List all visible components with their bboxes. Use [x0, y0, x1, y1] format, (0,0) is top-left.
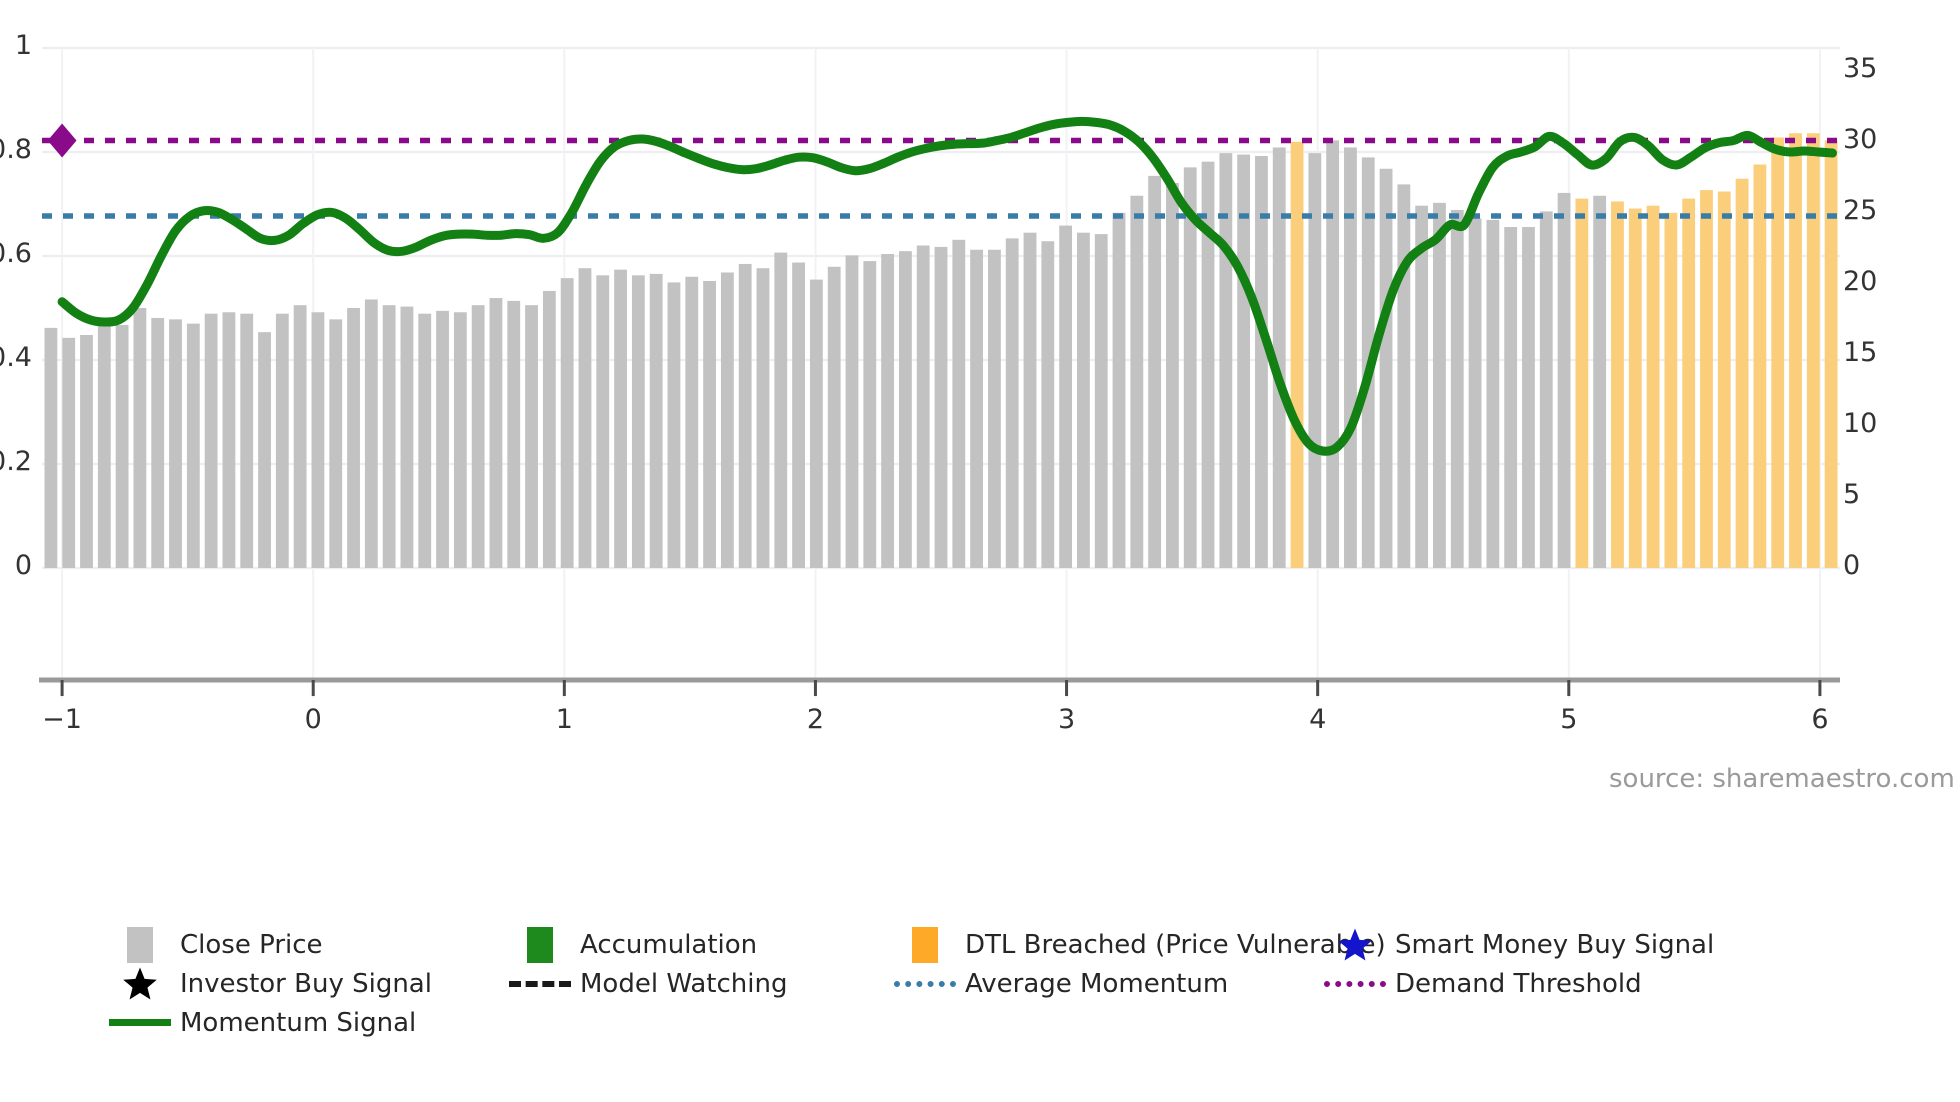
bar-close-price [187, 324, 200, 568]
bar-dtl-breached [1291, 142, 1304, 568]
bar-close-price [1148, 176, 1161, 568]
bar-close-price [1024, 233, 1037, 568]
bar-close-price [525, 305, 538, 568]
right-axis-tick-label: 35 [1843, 53, 1877, 84]
right-axis-tick-label: 15 [1843, 337, 1877, 368]
left-axis-tick-label: 1 [15, 30, 32, 61]
bar-close-price [454, 312, 467, 568]
bar-close-price [917, 245, 930, 568]
bar-close-price [1130, 196, 1143, 568]
x-axis-tick-label: 0 [305, 704, 322, 735]
legend-item-label: Investor Buy Signal [180, 969, 432, 999]
bar-close-price [169, 319, 182, 568]
dashed-line-icon [509, 981, 571, 987]
legend-item-smart-money-buy-signal[interactable]: Smart Money Buy Signal [1315, 925, 1715, 964]
square-swatch-icon [912, 927, 938, 963]
bar-close-price [365, 299, 378, 568]
bar-close-price [881, 254, 894, 568]
bar-close-price [62, 338, 75, 568]
bar-close-price [294, 305, 307, 568]
bar-close-price [792, 263, 805, 568]
right-axis-tick-label: 25 [1843, 195, 1877, 226]
solid-line-icon [109, 1019, 171, 1026]
right-axis-tick-label: 20 [1843, 266, 1877, 297]
bar-close-price [757, 268, 770, 568]
bar-close-price [329, 319, 342, 568]
right-axis-tick-label: 5 [1843, 479, 1860, 510]
right-axis-tick-label: 0 [1843, 550, 1860, 581]
bar-close-price [223, 312, 236, 568]
square-swatch-icon [127, 927, 153, 963]
bar-close-price [1433, 203, 1446, 568]
bar-dtl-breached [1789, 133, 1802, 568]
legend-swatch-line [100, 1019, 180, 1026]
chart-legend: Close PriceAccumulationDTL Breached (Pri… [100, 925, 1930, 1042]
bar-close-price [543, 291, 556, 568]
bar-close-price [1451, 210, 1464, 568]
x-axis-tick-label: 2 [807, 704, 824, 735]
bar-close-price [1558, 193, 1571, 568]
x-axis-tick-label: 5 [1560, 704, 1577, 735]
bar-dtl-breached [1718, 191, 1731, 568]
bar-close-price [1344, 147, 1357, 568]
bar-close-price [579, 268, 592, 568]
left-axis-tick-label: 0.6 [0, 238, 32, 269]
bar-dtl-breached [1700, 190, 1713, 568]
bar-close-price [703, 281, 716, 568]
bar-dtl-breached [1647, 206, 1660, 568]
bar-dtl-breached [1807, 133, 1820, 568]
bar-close-price [632, 275, 645, 568]
bar-close-price [596, 275, 609, 568]
bar-close-price [828, 267, 841, 568]
bar-close-price [418, 314, 431, 568]
bar-close-price [685, 277, 698, 568]
bar-dtl-breached [1611, 201, 1624, 568]
legend-swatch-line [1315, 981, 1395, 987]
bar-close-price [347, 308, 360, 568]
legend-item-investor-buy-signal[interactable]: Investor Buy Signal [100, 964, 500, 1003]
square-swatch-icon [527, 927, 553, 963]
bar-close-price [98, 319, 111, 568]
bar-close-price [721, 272, 734, 568]
legend-item-label: Average Momentum [965, 969, 1228, 999]
bar-dtl-breached [1825, 140, 1838, 568]
bar-close-price [1059, 226, 1072, 568]
bar-close-price [1504, 227, 1517, 568]
bar-close-price [151, 318, 164, 568]
legend-item-label: Close Price [180, 930, 323, 960]
bar-close-price [507, 301, 520, 568]
legend-row: Investor Buy SignalModel WatchingAverage… [100, 964, 1930, 1003]
legend-item-label: Momentum Signal [180, 1008, 416, 1038]
bar-close-price [863, 261, 876, 568]
legend-item-model-watching[interactable]: Model Watching [500, 964, 885, 1003]
bar-close-price [1077, 233, 1090, 568]
bar-close-price [490, 298, 503, 568]
bar-dtl-breached [1682, 199, 1695, 568]
legend-swatch-star [100, 965, 180, 1003]
x-axis-tick-label: 1 [556, 704, 573, 735]
source-attribution: source: sharemaestro.com [1609, 764, 1955, 794]
legend-item-label: Accumulation [580, 930, 757, 960]
bar-close-price [1486, 220, 1499, 568]
bar-close-price [205, 314, 218, 568]
bar-dtl-breached [1629, 209, 1642, 568]
bar-close-price [1593, 196, 1606, 568]
bar-close-price [668, 282, 681, 568]
legend-swatch-star [1315, 926, 1395, 964]
bar-close-price [312, 312, 325, 568]
bar-close-price [614, 270, 627, 568]
bar-close-price [401, 307, 414, 568]
legend-swatch-patch [885, 927, 965, 963]
bar-close-price [1166, 183, 1179, 568]
bar-close-price [1522, 227, 1535, 568]
legend-item-momentum-signal[interactable]: Momentum Signal [100, 1003, 500, 1042]
legend-swatch-patch [500, 927, 580, 963]
left-axis-tick-label: 0 [15, 550, 32, 581]
bar-close-price [774, 253, 787, 568]
bar-close-price [650, 274, 663, 568]
bar-dtl-breached [1575, 199, 1588, 568]
bar-close-price [1380, 169, 1393, 568]
bar-close-price [258, 332, 271, 568]
x-axis-tick-label: 3 [1058, 704, 1075, 735]
bar-close-price [739, 264, 752, 568]
bar-close-price [44, 328, 57, 568]
legend-item-close-price[interactable]: Close Price [100, 925, 500, 964]
bar-close-price [276, 314, 289, 568]
bar-close-price [846, 255, 859, 568]
legend-item-label: Smart Money Buy Signal [1395, 930, 1714, 960]
right-axis-tick-label: 10 [1843, 408, 1877, 439]
x-axis-tick-label: 6 [1811, 704, 1828, 735]
bar-close-price [1469, 218, 1482, 568]
dotted-line-icon [894, 981, 956, 987]
bar-dtl-breached [1771, 138, 1784, 568]
bar-close-price [561, 278, 574, 568]
legend-swatch-line [885, 981, 965, 987]
bar-close-price [116, 325, 129, 568]
legend-item-label: Demand Threshold [1395, 969, 1642, 999]
chart-figure: 00.20.40.60.81 05101520253035 −10123456 … [0, 0, 1960, 1102]
bar-close-price [935, 247, 948, 568]
bar-close-price [472, 305, 485, 568]
bar-close-price [1113, 213, 1126, 568]
bar-close-price [1041, 241, 1054, 568]
star-icon [1336, 926, 1374, 964]
bar-close-price [1415, 206, 1428, 568]
bar-close-price [1326, 140, 1339, 568]
legend-item-accumulation[interactable]: Accumulation [500, 925, 885, 964]
right-axis-tick-label: 30 [1843, 124, 1877, 155]
bar-close-price [1095, 234, 1108, 568]
left-axis-tick-label: 0.8 [0, 134, 32, 165]
legend-item-demand-threshold[interactable]: Demand Threshold [1315, 964, 1715, 1003]
x-axis-tick-label: 4 [1309, 704, 1326, 735]
bar-dtl-breached [1753, 165, 1766, 568]
bar-close-price [1006, 238, 1019, 568]
legend-item-label: Model Watching [580, 969, 787, 999]
bar-close-price [899, 251, 912, 568]
legend-swatch-line [500, 981, 580, 987]
left-axis-tick-label: 0.4 [0, 342, 32, 373]
legend-item-average-momentum[interactable]: Average Momentum [885, 964, 1315, 1003]
legend-row: Momentum Signal [100, 1003, 1930, 1042]
bar-close-price [240, 314, 253, 568]
bar-close-price [1397, 184, 1410, 568]
bar-close-price [436, 311, 449, 568]
star-icon [121, 965, 159, 1003]
bar-close-price [970, 250, 983, 568]
bar-close-price [1184, 167, 1197, 568]
x-axis-tick-label: −1 [42, 704, 82, 735]
bar-close-price [988, 250, 1001, 568]
bar-dtl-breached [1736, 179, 1749, 568]
bar-close-price [952, 240, 965, 568]
left-axis-tick-label: 0.2 [0, 446, 32, 477]
legend-item-dtl-breached-price-vulnerable[interactable]: DTL Breached (Price Vulnerable) [885, 925, 1315, 964]
bar-dtl-breached [1664, 213, 1677, 568]
bar-close-price [80, 335, 93, 568]
legend-swatch-patch [100, 927, 180, 963]
bar-close-price [810, 280, 823, 568]
dotted-line-icon [1324, 981, 1386, 987]
bar-close-price [134, 308, 147, 568]
bar-close-price [383, 305, 396, 568]
bar-close-price [1540, 211, 1553, 568]
legend-row: Close PriceAccumulationDTL Breached (Pri… [100, 925, 1930, 964]
